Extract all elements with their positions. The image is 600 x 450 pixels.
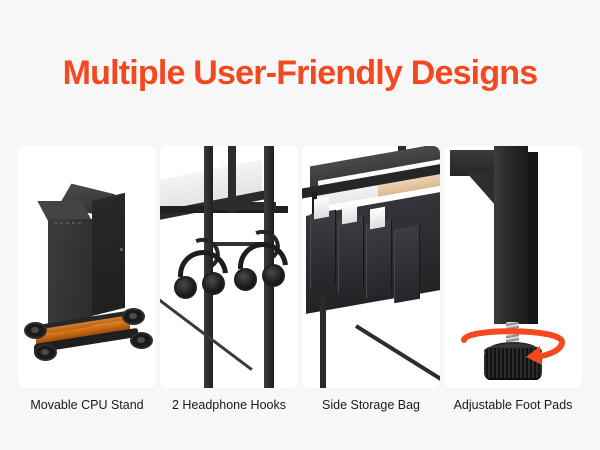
caption-row: Movable CPU Stand 2 Headphone Hooks Side…	[18, 396, 582, 414]
headphone-hooks-icon	[160, 146, 298, 388]
caption-side-storage-bag: Side Storage Bag	[302, 396, 440, 414]
feature-panel-side-storage-bag: BUYDEE	[302, 146, 440, 388]
side-storage-bag-icon: BUYDEE	[302, 146, 440, 388]
adjustable-foot-pad-icon	[444, 146, 582, 388]
promo-graphic: Multiple User-Friendly Designs	[0, 0, 600, 450]
headphone-left-icon	[178, 250, 228, 300]
feature-panel-adjustable-foot-pads	[444, 146, 582, 388]
feature-panel-movable-cpu-stand	[18, 146, 156, 388]
caption-movable-cpu-stand: Movable CPU Stand	[18, 396, 156, 414]
page-title: Multiple User-Friendly Designs	[0, 50, 600, 96]
feature-panel-headphone-hooks	[160, 146, 298, 388]
rotation-arrow-icon	[456, 324, 570, 368]
headphone-right-icon	[238, 242, 288, 292]
cpu-tower-on-rolling-stand-icon	[18, 146, 156, 388]
caption-headphone-hooks: 2 Headphone Hooks	[160, 396, 298, 414]
feature-panel-row: BUYDEE	[18, 146, 582, 388]
caption-adjustable-foot-pads: Adjustable Foot Pads	[444, 396, 582, 414]
